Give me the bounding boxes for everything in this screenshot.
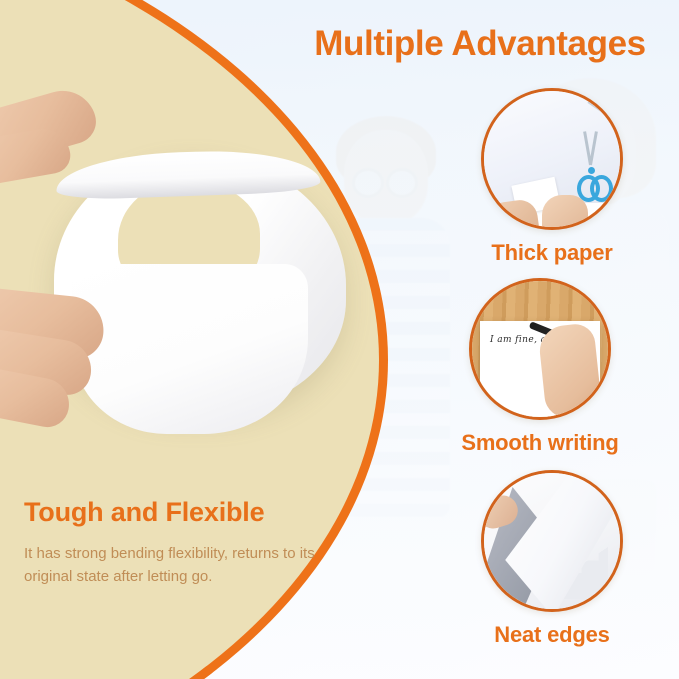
feature-thumbnail-smooth-writing: I am fine, and — [469, 278, 611, 420]
feature-smooth-writing: I am fine, and Smooth writing — [420, 278, 660, 456]
feature-label-smooth-writing: Smooth writing — [420, 430, 660, 456]
scissors-icon — [578, 153, 604, 199]
right-hand — [542, 195, 588, 230]
left-body-text: It has strong bending flexibility, retur… — [24, 542, 354, 589]
paper-lower-band — [72, 264, 308, 434]
left-heading: Tough and Flexible — [24, 498, 354, 528]
feature-label-thick-paper: Thick paper — [432, 240, 672, 266]
page-title: Multiple Advantages — [284, 24, 676, 64]
feature-thumbnail-neat-edges — [481, 470, 623, 612]
feature-thick-paper: Thick paper — [432, 88, 672, 266]
feature-label-neat-edges: Neat edges — [432, 622, 672, 648]
feature-neat-edges: Neat edges — [432, 470, 672, 648]
feature-thumbnail-thick-paper — [481, 88, 623, 230]
hero-bending-paper-image — [0, 96, 372, 456]
left-text-block: Tough and Flexible It has strong bending… — [24, 498, 354, 588]
product-advantages-poster: Tough and Flexible It has strong bending… — [0, 0, 679, 679]
writing-hand — [537, 322, 602, 419]
